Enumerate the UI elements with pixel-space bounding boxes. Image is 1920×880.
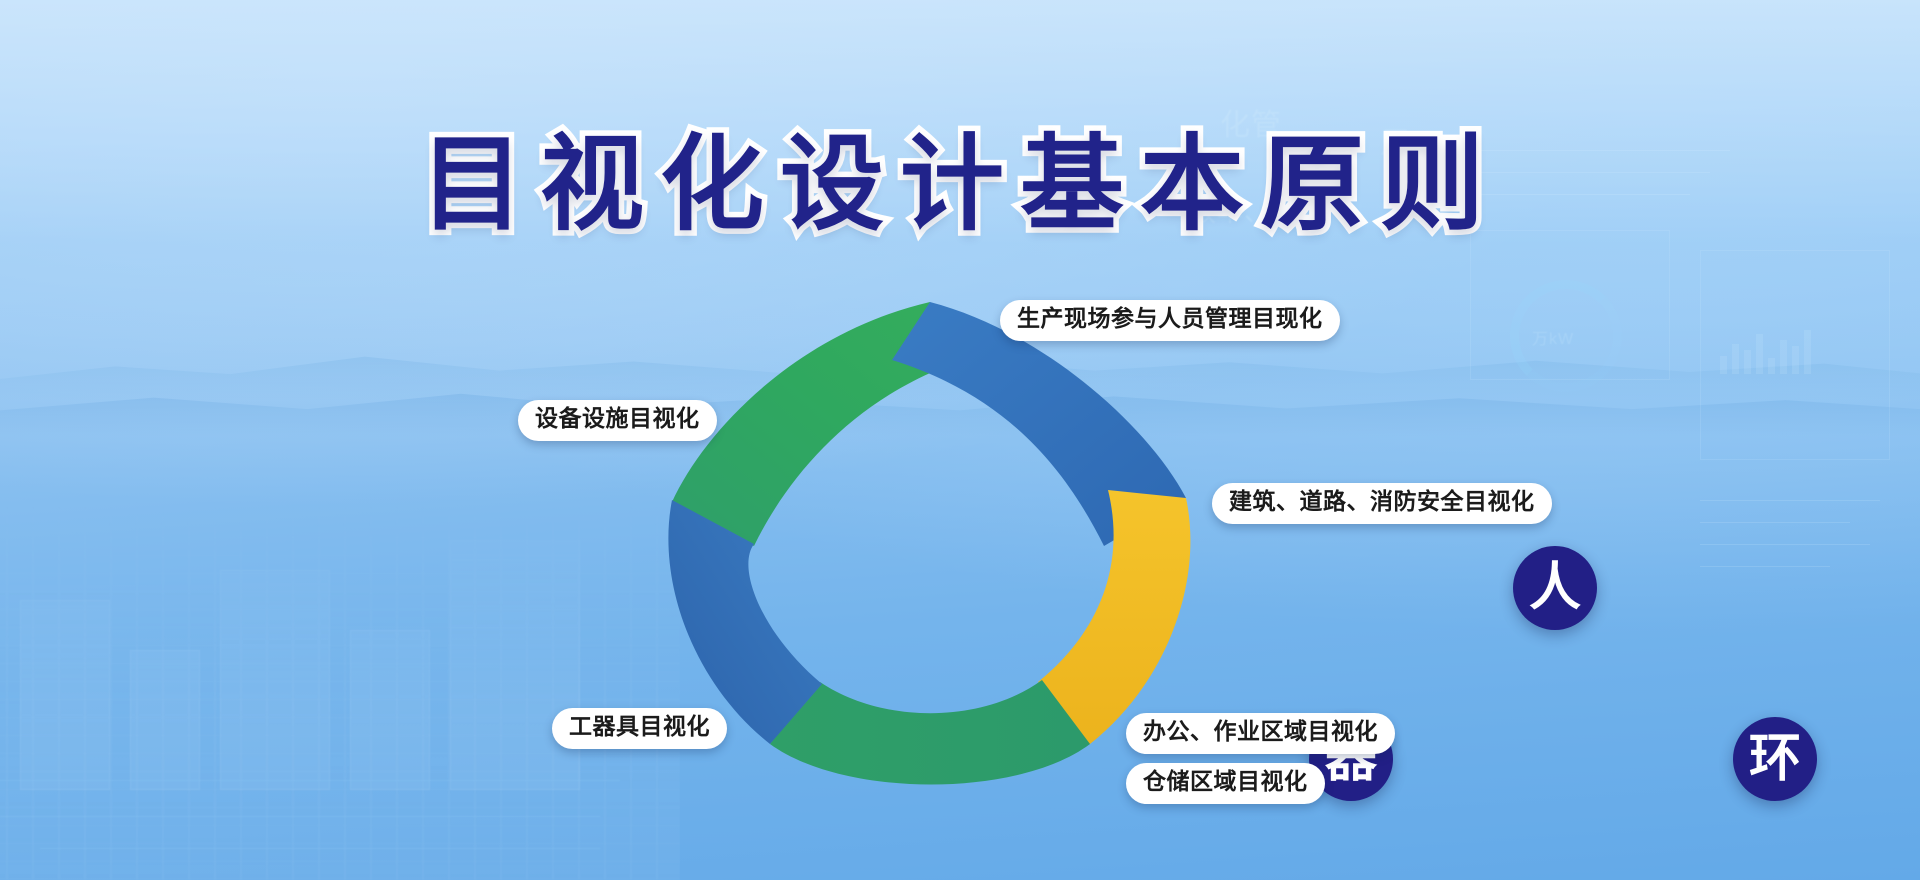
callout-huan[interactable]: 建筑、道路、消防安全目视化 (1212, 483, 1552, 524)
callout-ju[interactable]: 工器具目视化 (552, 708, 727, 749)
infographic-canvas: 化管 用 效率、低碳 万kW 目视化设计基本原则 (0, 0, 1920, 880)
star-node-ren[interactable]: 人 (1513, 546, 1597, 630)
callout-fa-one[interactable]: 办公、作业区域目视化 (1126, 713, 1395, 754)
callout-ren[interactable]: 生产现场参与人员管理目现化 (1000, 300, 1340, 341)
callout-fa-two[interactable]: 仓储区域目视化 (1126, 763, 1325, 804)
background-cityscape (0, 480, 680, 880)
star-node-huan[interactable]: 环 (1733, 717, 1817, 801)
ghost-text-capacity: 万kW (1532, 325, 1574, 349)
page-title: 目视化设计基本原则 (0, 132, 1920, 236)
ribbon-fa-ju (770, 680, 1090, 785)
callout-qi[interactable]: 设备设施目视化 (518, 400, 717, 441)
